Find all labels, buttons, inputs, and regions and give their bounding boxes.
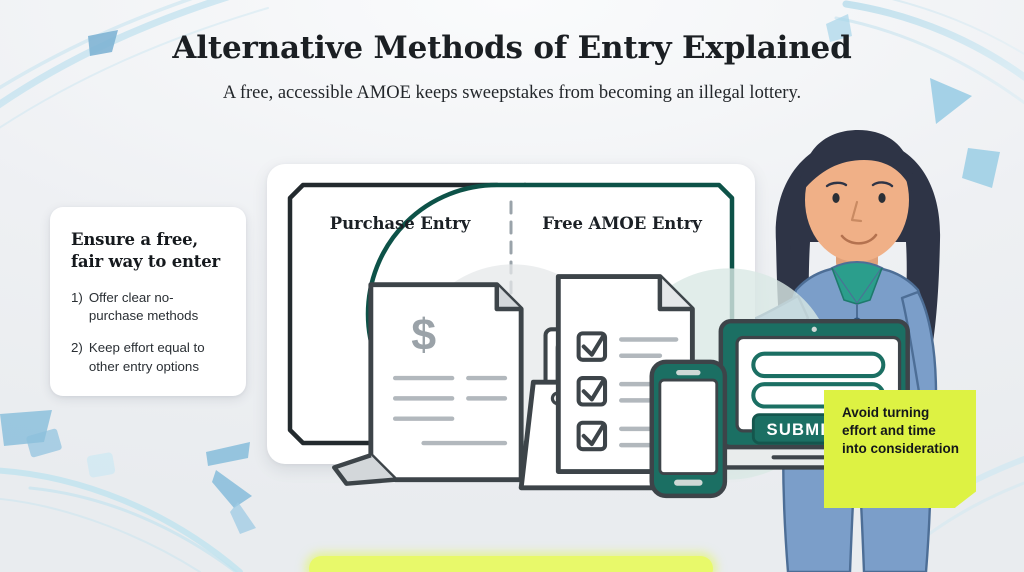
- infographic-canvas: Alternative Methods of Entry Explained A…: [0, 0, 1024, 572]
- page-subtitle: A free, accessible AMOE keeps sweepstake…: [0, 81, 1024, 105]
- phone-icon: [652, 362, 725, 496]
- ticket-card: Purchase Entry $: [267, 164, 755, 464]
- list-item: 1) Offer clear no-purchase methods: [71, 289, 226, 326]
- sticky-note-text: Avoid turning effort and time into consi…: [842, 404, 962, 459]
- stub-free-amoe-entry: Free AMOE Entry: [511, 184, 733, 444]
- list-item: 2) Keep effort equal to other entry opti…: [71, 339, 226, 376]
- receipt-icon: $: [334, 285, 521, 484]
- info-card-list: 1) Offer clear no-purchase methods 2) Ke…: [71, 289, 226, 376]
- svg-text:$: $: [411, 311, 436, 360]
- sticky-note: Avoid turning effort and time into consi…: [824, 390, 976, 508]
- list-item-text: Offer clear no-purchase methods: [89, 289, 226, 326]
- highlight-bar: [309, 556, 713, 572]
- info-card: Ensure a free, fair way to enter 1) Offe…: [50, 207, 246, 396]
- list-item-number: 1): [71, 289, 83, 326]
- list-item-text: Keep effort equal to other entry options: [89, 339, 226, 376]
- header: Alternative Methods of Entry Explained A…: [0, 30, 1024, 105]
- ticket-graphic: Purchase Entry $: [289, 184, 733, 444]
- purchase-entry-illustration: $: [289, 244, 511, 374]
- page-title: Alternative Methods of Entry Explained: [0, 30, 1024, 68]
- stub-heading: Purchase Entry: [289, 214, 511, 233]
- stub-heading: Free AMOE Entry: [511, 214, 733, 233]
- eye-left: [832, 193, 839, 203]
- eye-right: [878, 193, 885, 203]
- amoe-entry-illustration: SUBMIT: [511, 244, 733, 374]
- stub-purchase-entry: Purchase Entry $: [289, 184, 511, 444]
- info-card-title: Ensure a free, fair way to enter: [71, 229, 226, 273]
- list-item-number: 2): [71, 339, 83, 376]
- swoosh-bottom-left: [0, 470, 240, 572]
